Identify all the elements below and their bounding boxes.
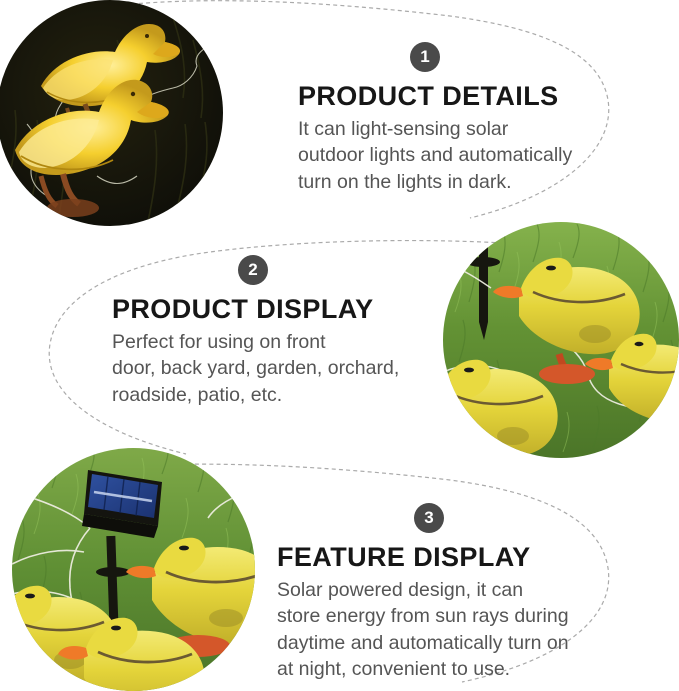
section-3-badge-wrap: 3 [277, 503, 597, 533]
infographic-canvas: 1 PRODUCT DETAILS It can light-sensing s… [0, 0, 679, 689]
section-3-body-line-3: daytime and automatically turn on [277, 630, 597, 656]
section-2-body-line-2: door, back yard, garden, orchard, [112, 355, 422, 381]
step-badge-3: 3 [414, 503, 444, 533]
duck-lights-at-night-photo [0, 0, 223, 226]
section-2-text-block: 2 PRODUCT DISPLAY Perfect for using on f… [112, 255, 422, 408]
section-1-text-block: 1 PRODUCT DETAILS It can light-sensing s… [298, 42, 598, 195]
section-1-body: It can light-sensing solar outdoor light… [298, 116, 598, 195]
section-2-heading: PRODUCT DISPLAY [112, 294, 422, 325]
section-3-body-line-4: at night, convenient to use. [277, 656, 597, 682]
step-badge-1: 1 [410, 42, 440, 72]
solar-panel-with-ducks-photo [12, 448, 255, 691]
section-2-body-line-1: Perfect for using on front [112, 329, 422, 355]
section-3-text-block: 3 FEATURE DISPLAY Solar powered design, … [277, 503, 597, 682]
section-2-body-line-3: roadside, patio, etc. [112, 382, 422, 408]
section-3-heading: FEATURE DISPLAY [277, 542, 597, 573]
ducks-on-grass-photo [443, 222, 679, 458]
section-1-body-line-3: turn on the lights in dark. [298, 169, 598, 195]
section-3-body-line-2: store energy from sun rays during [277, 603, 597, 629]
section-1-body-line-2: outdoor lights and automatically [298, 142, 598, 168]
step-badge-2: 2 [238, 255, 268, 285]
section-1-badge-wrap: 1 [298, 42, 598, 72]
section-1-body-line-1: It can light-sensing solar [298, 116, 598, 142]
section-3-body-line-1: Solar powered design, it can [277, 577, 597, 603]
section-2-badge-wrap: 2 [112, 255, 422, 285]
section-1-heading: PRODUCT DETAILS [298, 81, 598, 112]
section-2-body: Perfect for using on front door, back ya… [112, 329, 422, 408]
section-3-body: Solar powered design, it can store energ… [277, 577, 597, 682]
